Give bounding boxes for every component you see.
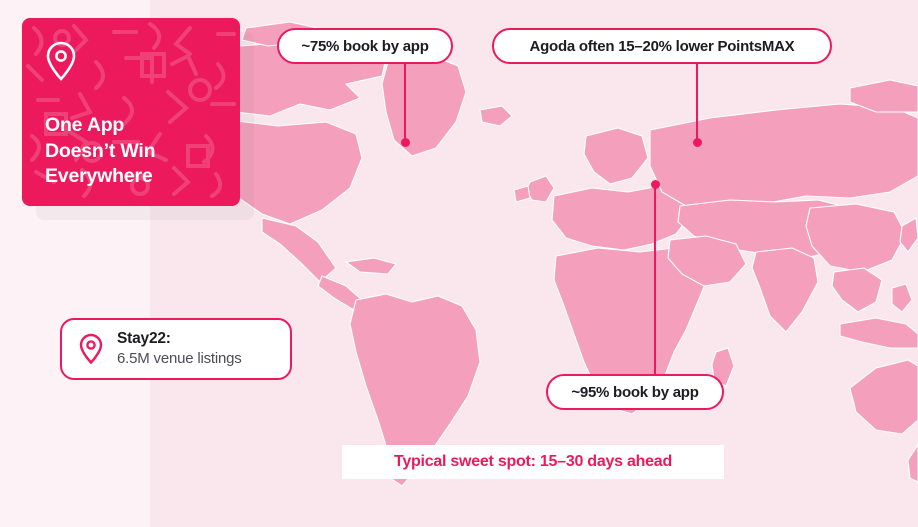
callout-south-asia-label: ~95% book by app xyxy=(571,384,698,401)
connector-dot-south-asia xyxy=(651,180,660,189)
callout-russia-label: Agoda often 15–20% lower PointsMAX xyxy=(530,38,795,55)
stay22-name: Stay22: xyxy=(117,329,242,349)
title-line-2: Doesn’t Win xyxy=(45,139,235,165)
callout-south-asia[interactable]: ~95% book by app xyxy=(546,374,724,410)
callout-greenland[interactable]: ~75% book by app xyxy=(277,28,453,64)
title-line-3: Everywhere xyxy=(45,164,235,190)
title-card-heading: One App Doesn’t Win Everywhere xyxy=(45,113,235,190)
map-pin-icon xyxy=(44,40,78,82)
landmass-new-zealand xyxy=(908,444,918,482)
map-pin-icon xyxy=(78,333,104,365)
landmass-india xyxy=(752,248,818,332)
callout-russia[interactable]: Agoda often 15–20% lower PointsMAX xyxy=(492,28,832,64)
landmass-mexico xyxy=(262,218,336,282)
landmass-russia xyxy=(650,104,918,210)
connector-dot-russia xyxy=(693,138,702,147)
connector-line-greenland xyxy=(404,62,406,142)
footer-banner-text: Typical sweet spot: 15–30 days ahead xyxy=(394,453,672,471)
landmass-australia xyxy=(850,360,918,434)
connector-line-russia xyxy=(696,62,698,142)
callout-greenland-label: ~75% book by app xyxy=(301,38,428,55)
title-card: One App Doesn’t Win Everywhere xyxy=(22,18,240,206)
landmass-japan xyxy=(900,218,918,252)
landmass-scandinavia xyxy=(584,128,648,184)
landmass-iceland xyxy=(480,106,512,126)
stay22-detail: 6.5M venue listings xyxy=(117,349,242,368)
footer-banner: Typical sweet spot: 15–30 days ahead xyxy=(342,445,724,479)
title-line-1: One App xyxy=(45,113,235,139)
landmass-southeast-asia xyxy=(832,268,882,312)
infographic-canvas: One App Doesn’t Win Everywhere ~75% book… xyxy=(0,0,918,527)
landmass-caribbean xyxy=(346,258,396,274)
landmass-greenland xyxy=(382,54,466,156)
stay22-text-block: Stay22: 6.5M venue listings xyxy=(117,329,242,368)
landmass-indonesia xyxy=(840,318,918,348)
connector-line-south-asia xyxy=(654,188,656,374)
connector-dot-greenland xyxy=(401,138,410,147)
stay22-card[interactable]: Stay22: 6.5M venue listings xyxy=(60,318,292,380)
landmass-philippines xyxy=(892,284,912,312)
landmass-ireland xyxy=(514,186,530,202)
landmass-china xyxy=(806,204,906,272)
